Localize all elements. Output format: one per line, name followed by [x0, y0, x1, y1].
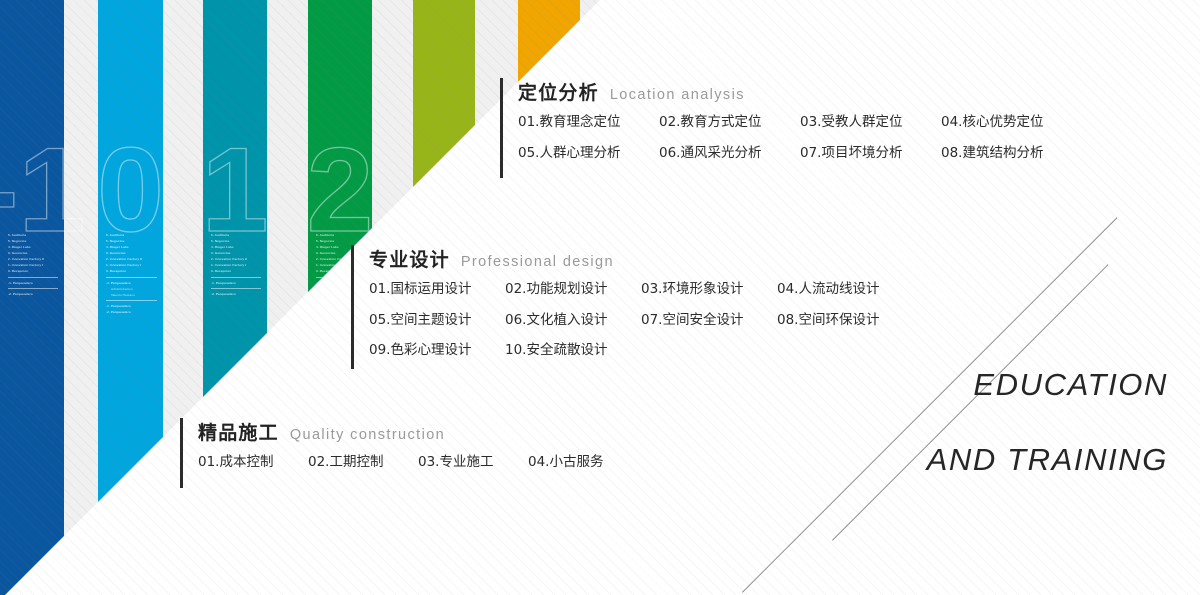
section-item-grid: 01.国标运用设计 02.功能规划设计 03.环境形象设计 04.人流动线设计 … [369, 274, 1011, 366]
list-item[interactable]: 05.空间主题设计 [369, 305, 505, 336]
section-title-cn: 定位分析 [518, 78, 599, 105]
directory-row-highlight: -1. Parqueadero [211, 280, 261, 286]
section-header: 专业设计 Professional design [369, 245, 1011, 272]
directory-subrow: Talento Humano [106, 292, 157, 298]
directory-rule [8, 288, 58, 289]
list-item[interactable]: 08.建筑结构分析 [941, 138, 1082, 169]
list-item[interactable]: 06.通风采光分析 [659, 138, 800, 169]
brand-line-2: AND TRAINING [927, 441, 1168, 479]
item-row: 05.空间主题设计 06.文化植入设计 07.空间安全设计 08.空间环保设计 [369, 305, 1011, 336]
list-item[interactable]: 04.核心优势定位 [941, 107, 1082, 138]
section-title-en: Quality construction [290, 427, 445, 443]
brand-title: EDUCATION AND TRAINING [927, 328, 1168, 517]
list-item[interactable]: 01.国标运用设计 [369, 274, 505, 305]
section-item-grid: 01.教育理念定位 02.教育方式定位 03.受教人群定位 04.核心优势定位 … [518, 107, 1160, 168]
brand-line-1: EDUCATION [927, 366, 1168, 404]
section-professional-design: 专业设计 Professional design 01.国标运用设计 02.功能… [351, 245, 1011, 366]
directory-rule [8, 277, 58, 278]
list-item[interactable]: 08.空间环保设计 [777, 305, 913, 336]
list-item[interactable]: 04.人流动线设计 [777, 274, 913, 305]
stripe-cyan: 06. Auditoria5. Negocios4. Riuger Labs3.… [98, 0, 163, 595]
list-item[interactable]: 04.小古服务 [528, 447, 638, 478]
stripe-directory-list: 6. Auditoria5. Negocios4. Riuger Labs3. … [106, 232, 157, 315]
directory-row: -2. Parqueadero [8, 291, 58, 297]
list-item[interactable]: 09.色彩心理设计 [369, 335, 505, 366]
list-item[interactable]: 07.空间安全设计 [641, 305, 777, 336]
section-title-cn: 专业设计 [369, 245, 450, 272]
directory-row: -2. Parqueadero [211, 291, 261, 297]
slide-canvas: -16. Auditoria5. Negocios4. Riuger Labs3… [0, 0, 1200, 595]
list-item[interactable]: 02.工期控制 [308, 447, 418, 478]
list-item[interactable]: 07.项目坏境分析 [800, 138, 941, 169]
section-title-en: Location analysis [610, 87, 745, 103]
stripe-gap-1 [163, 0, 203, 595]
list-item[interactable]: 05.人群心理分析 [518, 138, 659, 169]
section-quality-construction: 精品施工 Quality construction 01.成本控制 02.工期控… [180, 418, 840, 478]
section-header: 定位分析 Location analysis [518, 78, 1160, 105]
list-item[interactable]: 06.文化植入设计 [505, 305, 641, 336]
section-accent-bar [180, 418, 183, 488]
directory-row-highlight: -1. Parqueadero [8, 280, 58, 286]
section-location-analysis: 定位分析 Location analysis 01.教育理念定位 02.教育方式… [500, 78, 1160, 168]
stripe-navy: -16. Auditoria5. Negocios4. Riuger Labs3… [0, 0, 64, 595]
list-item[interactable]: 03.环境形象设计 [641, 274, 777, 305]
section-accent-bar [500, 78, 503, 178]
section-header: 精品施工 Quality construction [198, 418, 840, 445]
section-item-grid: 01.成本控制 02.工期控制 03.专业施工 04.小古服务 [198, 447, 840, 478]
list-item[interactable]: 02.教育方式定位 [659, 107, 800, 138]
list-item[interactable]: 01.成本控制 [198, 447, 308, 478]
list-item[interactable]: 03.受教人群定位 [800, 107, 941, 138]
directory-row: 0. Recepcion [8, 268, 58, 274]
stripe-teal: 16. Auditoria5. Negocios4. Riuger Labs3.… [203, 0, 267, 595]
section-accent-bar [351, 245, 354, 369]
directory-rule [211, 277, 261, 278]
directory-rule [211, 288, 261, 289]
item-row: 09.色彩心理设计 10.安全疏散设计 [369, 335, 1011, 366]
directory-row: 0. Recepcion [106, 268, 157, 274]
list-item[interactable]: 03.专业施工 [418, 447, 528, 478]
directory-row: -2. Parqueadero [106, 309, 157, 315]
item-row: 01.成本控制 02.工期控制 03.专业施工 04.小古服务 [198, 447, 840, 478]
directory-rule [106, 277, 157, 278]
stripe-directory-list: 6. Auditoria5. Negocios4. Riuger Labs3. … [8, 232, 58, 297]
section-title-en: Professional design [461, 254, 614, 270]
list-item[interactable]: 01.教育理念定位 [518, 107, 659, 138]
list-item[interactable]: 02.功能规划设计 [505, 274, 641, 305]
stripe-gap-0 [64, 0, 98, 595]
item-row: 01.国标运用设计 02.功能规划设计 03.环境形象设计 04.人流动线设计 [369, 274, 1011, 305]
stripe-gap-2 [267, 0, 308, 595]
section-title-cn: 精品施工 [198, 418, 279, 445]
stripe-directory-list: 6. Auditoria5. Negocios4. Riuger Labs3. … [211, 232, 261, 297]
item-row: 01.教育理念定位 02.教育方式定位 03.受教人群定位 04.核心优势定位 [518, 107, 1160, 138]
item-row: 05.人群心理分析 06.通风采光分析 07.项目坏境分析 08.建筑结构分析 [518, 138, 1160, 169]
list-item[interactable]: 10.安全疏散设计 [505, 335, 641, 366]
directory-rule [106, 300, 157, 301]
directory-row: 0. Recepcion [211, 268, 261, 274]
